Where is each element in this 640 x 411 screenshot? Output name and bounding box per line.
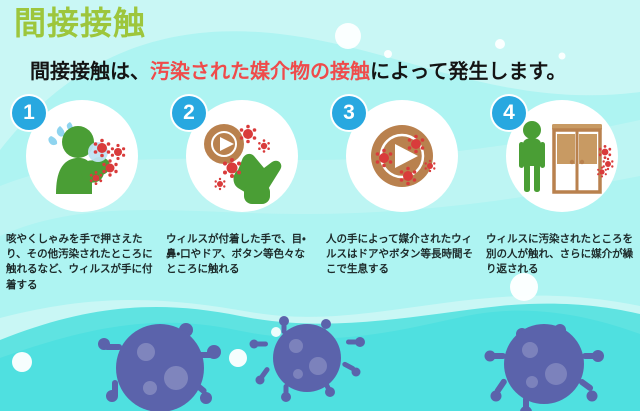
person-figure — [519, 121, 545, 192]
step-3[interactable]: 3 — [320, 96, 480, 236]
bubble-dot — [12, 352, 32, 372]
step-1-badge: 1 — [12, 96, 46, 130]
step-4-badge: 4 — [492, 96, 526, 130]
cyan-wave-front — [0, 311, 640, 411]
bubble-dot — [229, 349, 247, 367]
subtitle-highlight: 汚染された媒介物の接触 — [150, 61, 370, 83]
step-4-caption-text: ウィルスに汚染されたところを別の人が触れ、さらに媒介が繰り返される — [486, 232, 634, 278]
page-subtitle: 間接接触は、汚染された媒介物の接触によって発生します。 — [30, 55, 566, 84]
step-4[interactable]: 4 — [480, 96, 640, 236]
step-3-caption: 人の手によって媒介されたウィルスはドアやボタン等長時間そこで生息する — [320, 232, 480, 310]
captions-row: 咳やくしゃみを手で押さえたり、その他汚染されたところに触れるなど、ウィルスが手に… — [0, 232, 640, 310]
pointing-hand — [234, 154, 282, 204]
bubble-dot — [335, 23, 361, 49]
cyan-wave-back — [0, 304, 640, 411]
doorknob — [204, 124, 244, 164]
bubble-dot — [495, 39, 505, 49]
decorative-virus-icon — [485, 324, 605, 411]
subtitle-lead: 間接接触は、 — [30, 61, 150, 83]
subtitle-tail: によって発生します。 — [370, 61, 566, 83]
step-2-badge: 2 — [172, 96, 206, 130]
decorative-virus-icon — [98, 323, 221, 411]
step-4-caption: ウィルスに汚染されたところを別の人が触れ、さらに媒介が繰り返される — [480, 232, 640, 310]
pale-wave-lower — [0, 296, 640, 411]
step-3-caption-text: 人の手によって媒介されたウィルスはドアやボタン等長時間そこで生息する — [326, 232, 474, 278]
step-2[interactable]: 2 — [160, 96, 320, 236]
step-1[interactable]: 1 — [0, 96, 160, 236]
step-2-caption-text: ウィルスが付着した手で、目・鼻・口やドア、ボタン等色々なところに触れる — [166, 232, 314, 278]
step-3-badge: 3 — [332, 96, 366, 130]
step-1-caption: 咳やくしゃみを手で押さえたり、その他汚染されたところに触れるなど、ウィルスが手に… — [0, 232, 160, 310]
steps-row: 1 — [0, 96, 640, 236]
bubble-dot — [271, 327, 281, 337]
page-title: 間接接触 — [14, 6, 146, 41]
step-1-caption-text: 咳やくしゃみを手で押さえたり、その他汚染されたところに触れるなど、ウィルスが手に… — [6, 232, 154, 293]
step-2-caption: ウィルスが付着した手で、目・鼻・口やドア、ボタン等色々なところに触れる — [160, 232, 320, 310]
double-door — [552, 124, 602, 192]
decorative-virus-icon — [250, 316, 366, 402]
infographic-poster: 間接接触 間接接触は、汚染された媒介物の接触によって発生します。 — [0, 0, 640, 411]
